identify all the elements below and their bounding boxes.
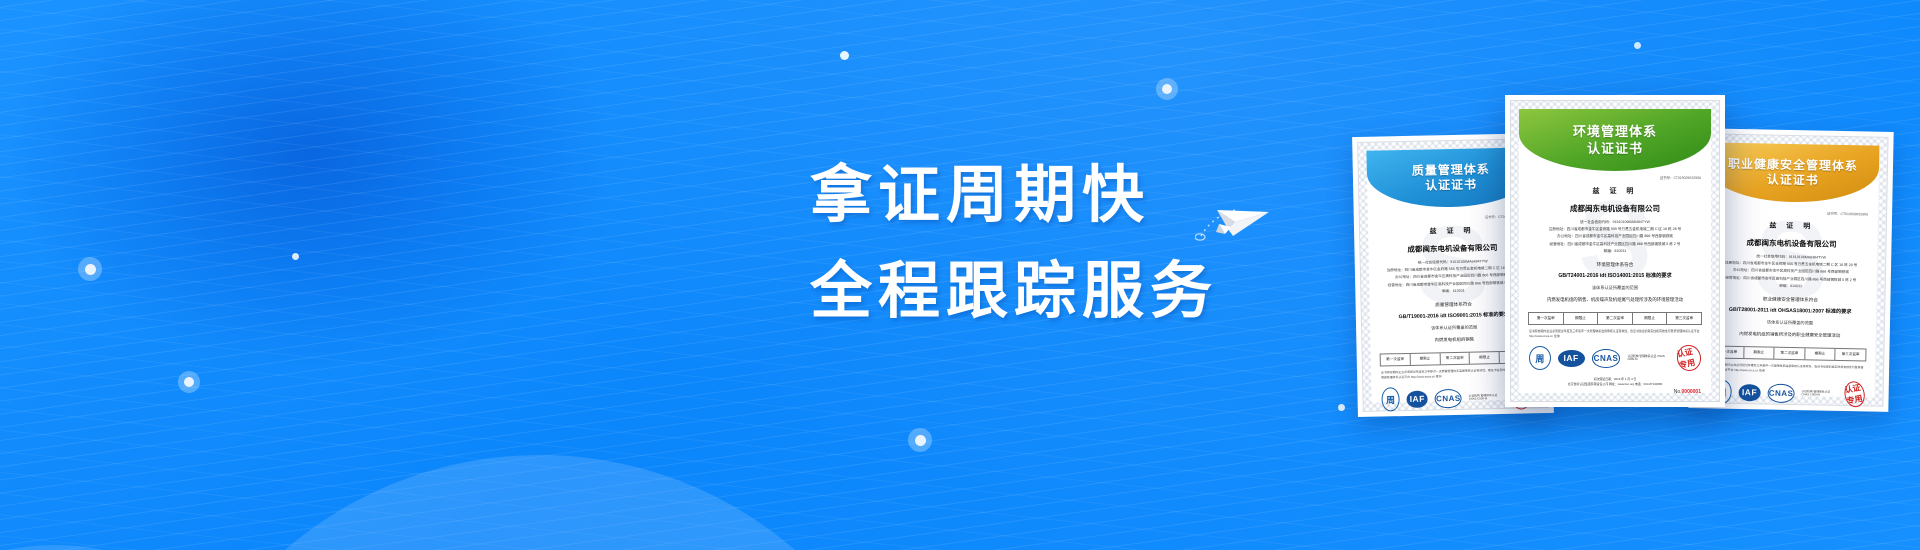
certificate-fine-print: 证书有效期内企业必须经过年度及三年复评一次管理体系监督审核认证有效性，查证书信息…: [1529, 329, 1701, 338]
certificate-logos: 周 IAF CNAS 认证机构 管理体系认证 CNAS C000-M 认证专用: [1712, 379, 1864, 408]
certificate-address-1: 注册地址：四川省成都市金牛区金府路 555 号万贯五金机电城二期 C 区 16 …: [1549, 226, 1681, 232]
audit-box: 第三次监审: [1836, 349, 1866, 361]
certificate-credit-code: 统一社会信用代码：91510106MA6484TYW: [1580, 219, 1650, 225]
certificate-address-3: 经营地址：四川省成都市金牛区高科技产业园区四川路 866 号西部钢铁城 5 栋 …: [1550, 241, 1681, 247]
certificate-number-label: No.: [1674, 389, 1682, 395]
iaf-logo-icon: IAF: [1558, 350, 1585, 367]
certificate-standard: GB/T19001-2016 idt ISO9001:2015 标准的要求: [1399, 311, 1510, 320]
certificate-postcode: 邮编：610031: [1779, 283, 1802, 290]
audit-box: 期限止: [1805, 348, 1836, 360]
certificate-company: 成都闽东电机设备有限公司: [1570, 203, 1660, 214]
official-red-stamp-icon: 认证专用: [1675, 343, 1703, 373]
certificate-company: 成都闽东电机设备有限公司: [1746, 237, 1836, 250]
headline-line-1: 拿证周期快: [810, 148, 1218, 244]
audit-box: 第二次监审: [1774, 348, 1805, 360]
certificate-subtitle: 职业健康安全管理体系符合: [1763, 296, 1818, 303]
promo-banner: 拿证周期快 全程跟踪服务 S 质量管理体系 认证证书: [0, 0, 1920, 550]
certificate-body: 证书号：CT0190290S2906 兹 证 明 成都闽东电机设备有限公司 统一…: [1529, 175, 1701, 385]
audit-box: 期限止: [1410, 353, 1440, 365]
certificate-field: S 职业健康安全管理体系 认证证书 证书号：CT0190290S2906 兹 证…: [1703, 142, 1880, 397]
certificate-number: No.0000001: [1674, 389, 1701, 395]
audit-box: 期限止: [1564, 313, 1599, 324]
certificate-field: S 环境管理体系 认证证书 证书号：CT0190290S2906 兹 证 明 成…: [1519, 109, 1711, 393]
headline-block: 拿证周期快 全程跟踪服务: [810, 148, 1218, 340]
certificate-fine-print: 证书有效期内企业必须经过年度及三年复评一次管理体系监督审核认证有效性，查证书信息…: [1713, 363, 1865, 375]
certificate-header-band: 环境管理体系 认证证书: [1519, 109, 1711, 171]
paper-plane-icon: [1195, 196, 1271, 244]
certificate-address-3: 经营地址：四川省成都市金牛区高科技产业园区四川路 866 号西部钢铁城 5 栋 …: [1725, 274, 1856, 283]
headline-line-2: 全程跟踪服务: [810, 244, 1218, 340]
certificate-band-title-1: 职业健康安全管理体系: [1728, 157, 1858, 174]
audit-box: 期限止: [1633, 313, 1668, 324]
certificate-dates: 初次颁证日期：2019 年 1 月 4 日: [1712, 411, 1864, 412]
audit-box: 期限止: [1470, 352, 1500, 364]
certificate-group: S 质量管理体系 认证证书 证书号：CT0190290S2906 兹 证 明 成…: [1355, 95, 1915, 465]
certificate-environment[interactable]: S 环境管理体系 认证证书 证书号：CT0190290S2906 兹 证 明 成…: [1505, 95, 1725, 407]
certificate-scope: 内燃发电机组的销售所涉及的职业健康安全管理活动: [1739, 330, 1840, 339]
certificate-issue-date: 初次颁证日期：2019 年 1 月 4 日: [1594, 377, 1637, 381]
certificate-band-title-2: 认证证书: [1425, 177, 1477, 193]
certificate-standard: GB/T24001-2016 idt ISO14001:2015 标准的要求: [1558, 272, 1671, 279]
audit-box: 第一次监审: [1381, 354, 1411, 366]
certificate-scope: 内燃发电机组的销售、机房噪声及机组尾气处理所涉及的环境管理活动: [1547, 296, 1683, 303]
certificate-band-title-2: 认证证书: [1587, 140, 1643, 157]
certificate-postcode: 邮编：610031: [1442, 288, 1465, 295]
certificate-credit-code: 统一社会信用代码：91510106MA6484TYW: [1756, 253, 1826, 261]
certificate-serial: 证书号：CT0190290S2906: [1660, 175, 1701, 180]
cnas-caption: 认证机构 管理体系认证 CNAS C000-M: [1627, 355, 1670, 362]
certificate-body: 证书号：CT0190290S2906 兹 证 明 成都闽东电机设备有限公司 统一…: [1713, 209, 1868, 390]
decorative-dot-halo: [908, 428, 932, 452]
certificate-scope-label: 该体系认证所覆盖的范围: [1767, 320, 1813, 327]
cnas-caption: 认证机构 管理体系认证 CNAS C000-M: [1801, 390, 1837, 398]
certificate-serial: 证书号：CT0190290S2906: [1827, 211, 1868, 217]
certificate-postcode: 邮编：610031: [1604, 248, 1627, 254]
china-certification-seal-icon: 周: [1529, 346, 1551, 370]
iaf-logo-icon: IAF: [1406, 390, 1428, 407]
cnas-logo-icon: CNAS: [1435, 389, 1462, 409]
certificate-title: 兹 证 明: [1769, 221, 1814, 232]
certificate-standard: GB/T28001-2011 idt OHSAS18001:2007 标准的要求: [1729, 306, 1852, 315]
certificate-scope-label: 该体系认证所覆盖的范围: [1592, 285, 1638, 291]
certificate-dates: 初次颁证日期：2019 年 1 月 4 日: [1382, 416, 1530, 417]
certificate-subtitle: 质量管理体系符合: [1435, 302, 1472, 309]
certificate-title: 兹 证 明: [1430, 226, 1475, 237]
certificate-issuer: 北京世标认证集团有限责任公司 网址：www.bsc.org 电话：010-871…: [1529, 382, 1701, 386]
certificate-number-value: 0000001: [1682, 389, 1701, 395]
audit-box: 第三次监审: [1667, 313, 1701, 324]
decorative-dot: [1338, 404, 1345, 411]
certificate-header-band: 职业健康安全管理体系 认证证书: [1706, 142, 1879, 203]
cnas-logo-icon: CNAS: [1592, 349, 1621, 368]
audit-box: 第一次监审: [1529, 313, 1564, 324]
certificate-scope: 内燃发电机组的销售: [1435, 336, 1475, 344]
decorative-dot-halo: [1156, 78, 1178, 100]
certificate-scope-label: 该体系认证所覆盖的范围: [1431, 325, 1477, 332]
iaf-logo-icon: IAF: [1738, 384, 1761, 401]
decorative-dot: [840, 51, 849, 60]
cnas-logo-icon: CNAS: [1768, 383, 1795, 403]
audit-box: 第二次监审: [1440, 353, 1470, 365]
decorative-dot: [1634, 42, 1641, 49]
decorative-dot-halo: [178, 371, 200, 393]
audit-box: 期限止: [1744, 347, 1775, 359]
audit-box: 第二次监审: [1598, 313, 1633, 324]
certificate-company: 成都闽东电机设备有限公司: [1407, 242, 1497, 255]
certificate-band-title-1: 环境管理体系: [1573, 123, 1657, 140]
decorative-dot: [292, 253, 299, 260]
certificate-subtitle: 环境管理体系符合: [1597, 262, 1634, 268]
certificate-address-2: 办公地址：四川省成都市金牛区高科技产业园区四川路 866 号西部钢铁城: [1557, 233, 1673, 239]
decorative-dot-halo: [78, 257, 102, 281]
certificate-title: 兹 证 明: [1593, 186, 1638, 196]
certificate-band-title-2: 认证证书: [1767, 173, 1819, 189]
official-red-stamp-icon: 认证专用: [1842, 380, 1867, 409]
certificate-audit-boxes: 第一次监审 期限止 第二次监审 期限止 第三次监审: [1712, 346, 1866, 362]
certificate-band-title-1: 质量管理体系: [1412, 162, 1490, 179]
china-certification-seal-icon: 周: [1381, 387, 1399, 411]
certificate-audit-boxes: 第一次监审 期限止 第二次监审 期限止 第三次监审: [1528, 312, 1702, 325]
cnas-caption: 认证机构 管理体系认证 CNAS C000-M: [1469, 394, 1504, 402]
certificate-logos: 周 IAF CNAS 认证机构 管理体系认证 CNAS C000-M 认证专用: [1529, 345, 1701, 371]
